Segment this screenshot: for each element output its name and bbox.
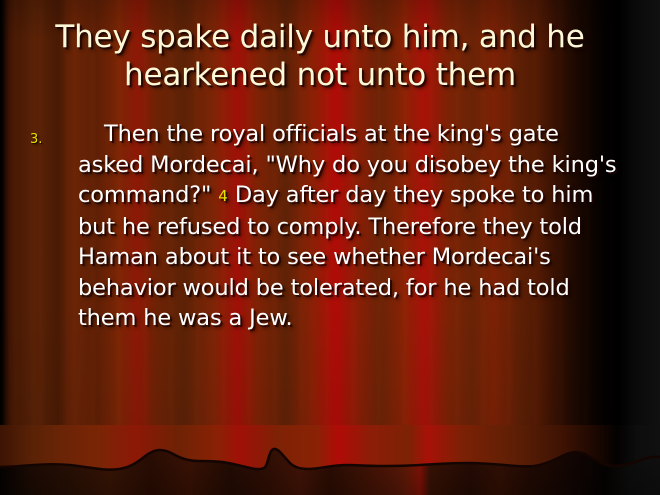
verse-number: 4 [218, 187, 228, 205]
slide-canvas: They spake daily unto him, and he hearke… [0, 0, 660, 495]
slide-body: 3. Then the royal officials at the king'… [30, 119, 625, 334]
scripture-paragraph: Then the royal officials at the king's g… [78, 119, 625, 334]
curtain-hem [0, 425, 660, 495]
slide-title: They spake daily unto him, and he hearke… [30, 18, 610, 94]
left-edge-vignette [0, 0, 10, 495]
curtain-hem-wave [0, 425, 660, 495]
list-marker: 3. [30, 119, 78, 154]
